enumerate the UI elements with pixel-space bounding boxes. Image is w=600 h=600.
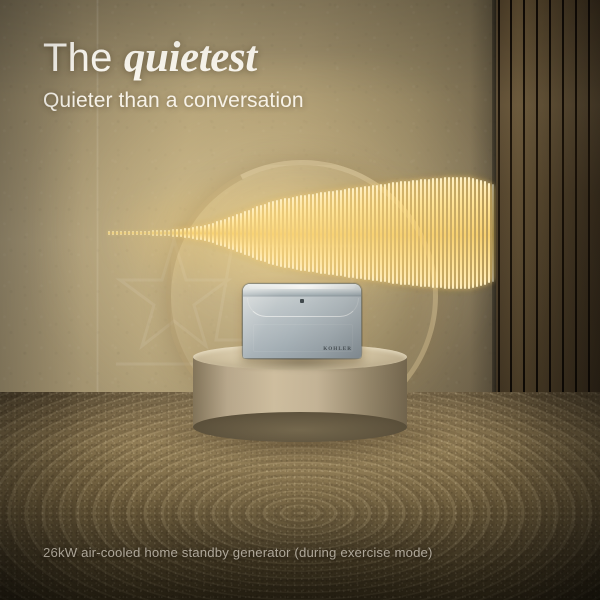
standby-generator-unit: KOHLER xyxy=(243,284,361,358)
slat-groove xyxy=(549,0,551,404)
slat-groove xyxy=(575,0,577,404)
product-caption: 26kW air-cooled home standby generator (… xyxy=(43,545,433,560)
wood-slat-panel xyxy=(496,0,600,404)
headline-italic-part: quietest xyxy=(124,34,257,81)
waveform-glow xyxy=(110,170,490,300)
promo-image-canvas: KOHLER The quietest Quieter than a conve… xyxy=(0,0,600,600)
subheadline: Quieter than a conversation xyxy=(43,88,304,113)
pedestal-bottom-ellipse xyxy=(193,412,407,442)
slat-groove xyxy=(523,0,525,404)
headline-light-part: The xyxy=(43,36,124,80)
slat-groove xyxy=(510,0,512,404)
headline: The quietest xyxy=(43,36,257,79)
slat-groove xyxy=(562,0,564,404)
slat-groove xyxy=(498,0,500,404)
slat-groove xyxy=(588,0,590,404)
generator-brand-logo: KOHLER xyxy=(323,347,352,352)
slat-groove xyxy=(536,0,538,404)
